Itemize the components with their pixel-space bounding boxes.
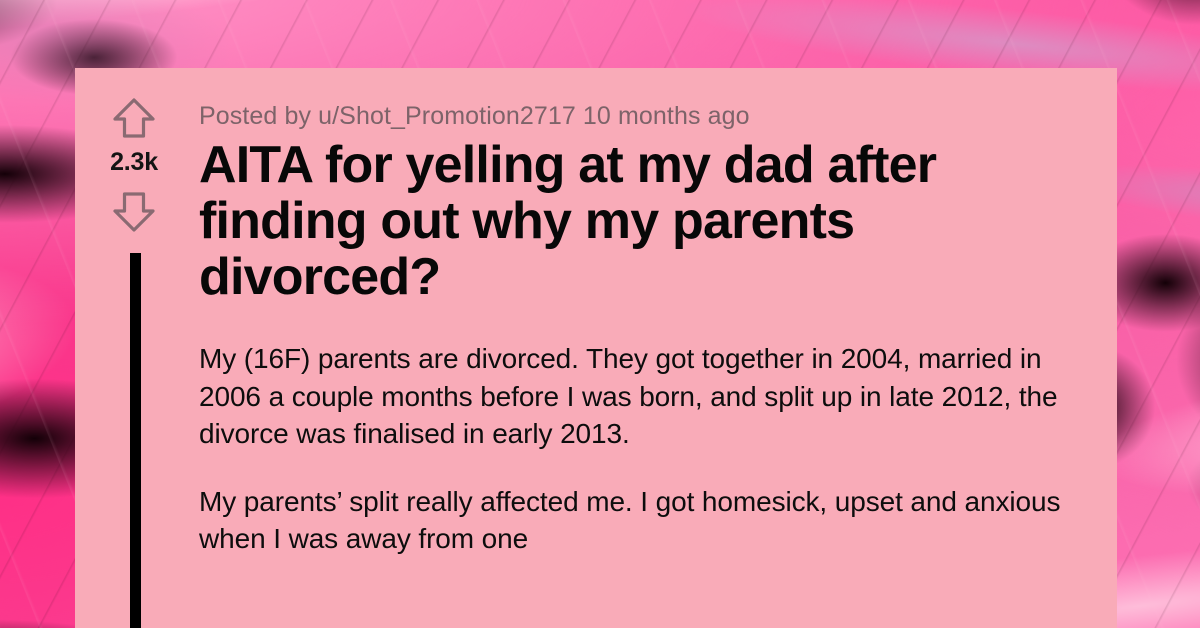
post-title[interactable]: AITA for yelling at my dad after finding… (199, 137, 1059, 305)
vote-column: 2.3k (75, 68, 193, 628)
post-paragraph: My parents’ split really affected me. I … (199, 483, 1081, 557)
post-content: Posted by u/Shot_Promotion2717 10 months… (199, 68, 1081, 588)
post-paragraph: My (16F) parents are divorced. They got … (199, 340, 1081, 452)
vote-score: 2.3k (110, 150, 158, 175)
arrow-down-icon[interactable] (111, 189, 157, 235)
quote-accent-bar (130, 253, 141, 628)
post-meta: Posted by u/Shot_Promotion2717 10 months… (199, 102, 1081, 131)
post-body: My (16F) parents are divorced. They got … (199, 340, 1081, 557)
screenshot-stage: 2.3k Posted by u/Shot_Promotion2717 10 m… (0, 0, 1200, 628)
reddit-post-card: 2.3k Posted by u/Shot_Promotion2717 10 m… (75, 68, 1117, 628)
arrow-up-icon[interactable] (111, 95, 157, 141)
